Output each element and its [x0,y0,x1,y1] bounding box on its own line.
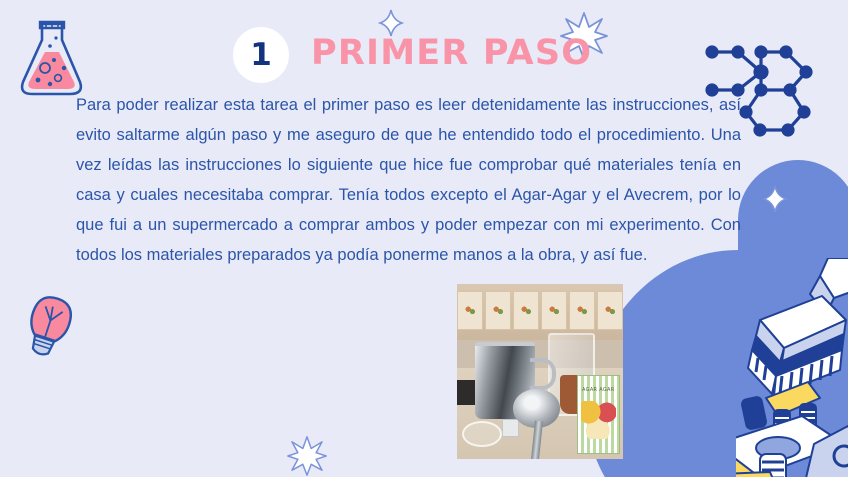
decorative-blue-circle-large [665,418,717,470]
photo-agar-agar-box: AGAR AGAR [577,375,621,454]
materials-photo: AGAR AGAR [457,284,623,459]
photo-tile [597,291,623,330]
sparkle-diamond-icon-right [762,184,788,214]
photo-agar-agar-artwork [581,401,616,440]
step-number-badge: 1 [233,27,289,83]
lightbulb-icon [14,292,80,370]
photo-tile [485,291,511,330]
photo-tile [569,291,595,330]
body-text: Para poder realizar esta tarea el primer… [76,90,741,270]
photo-content: AGAR AGAR [457,284,623,459]
photo-agar-agar-label: AGAR AGAR [578,387,620,393]
photo-avecrem-cube [502,419,519,437]
photo-tile-row [457,291,623,330]
sparkle-star-burst-icon-bottom [287,436,327,476]
microscope-icon [736,258,848,477]
body-paragraph: Para poder realizar esta tarea el primer… [76,90,741,270]
photo-pot-handle [530,358,556,391]
page-title: PRIMER PASO [311,33,592,73]
slide-header: 1 PRIMER PASO [0,0,848,92]
step-number: 1 [250,40,272,71]
slide-primer-paso: 1 PRIMER PASO Para poder realizar esta t… [0,0,848,477]
photo-tile [541,291,567,330]
photo-tile [513,291,539,330]
photo-tile [457,291,483,330]
